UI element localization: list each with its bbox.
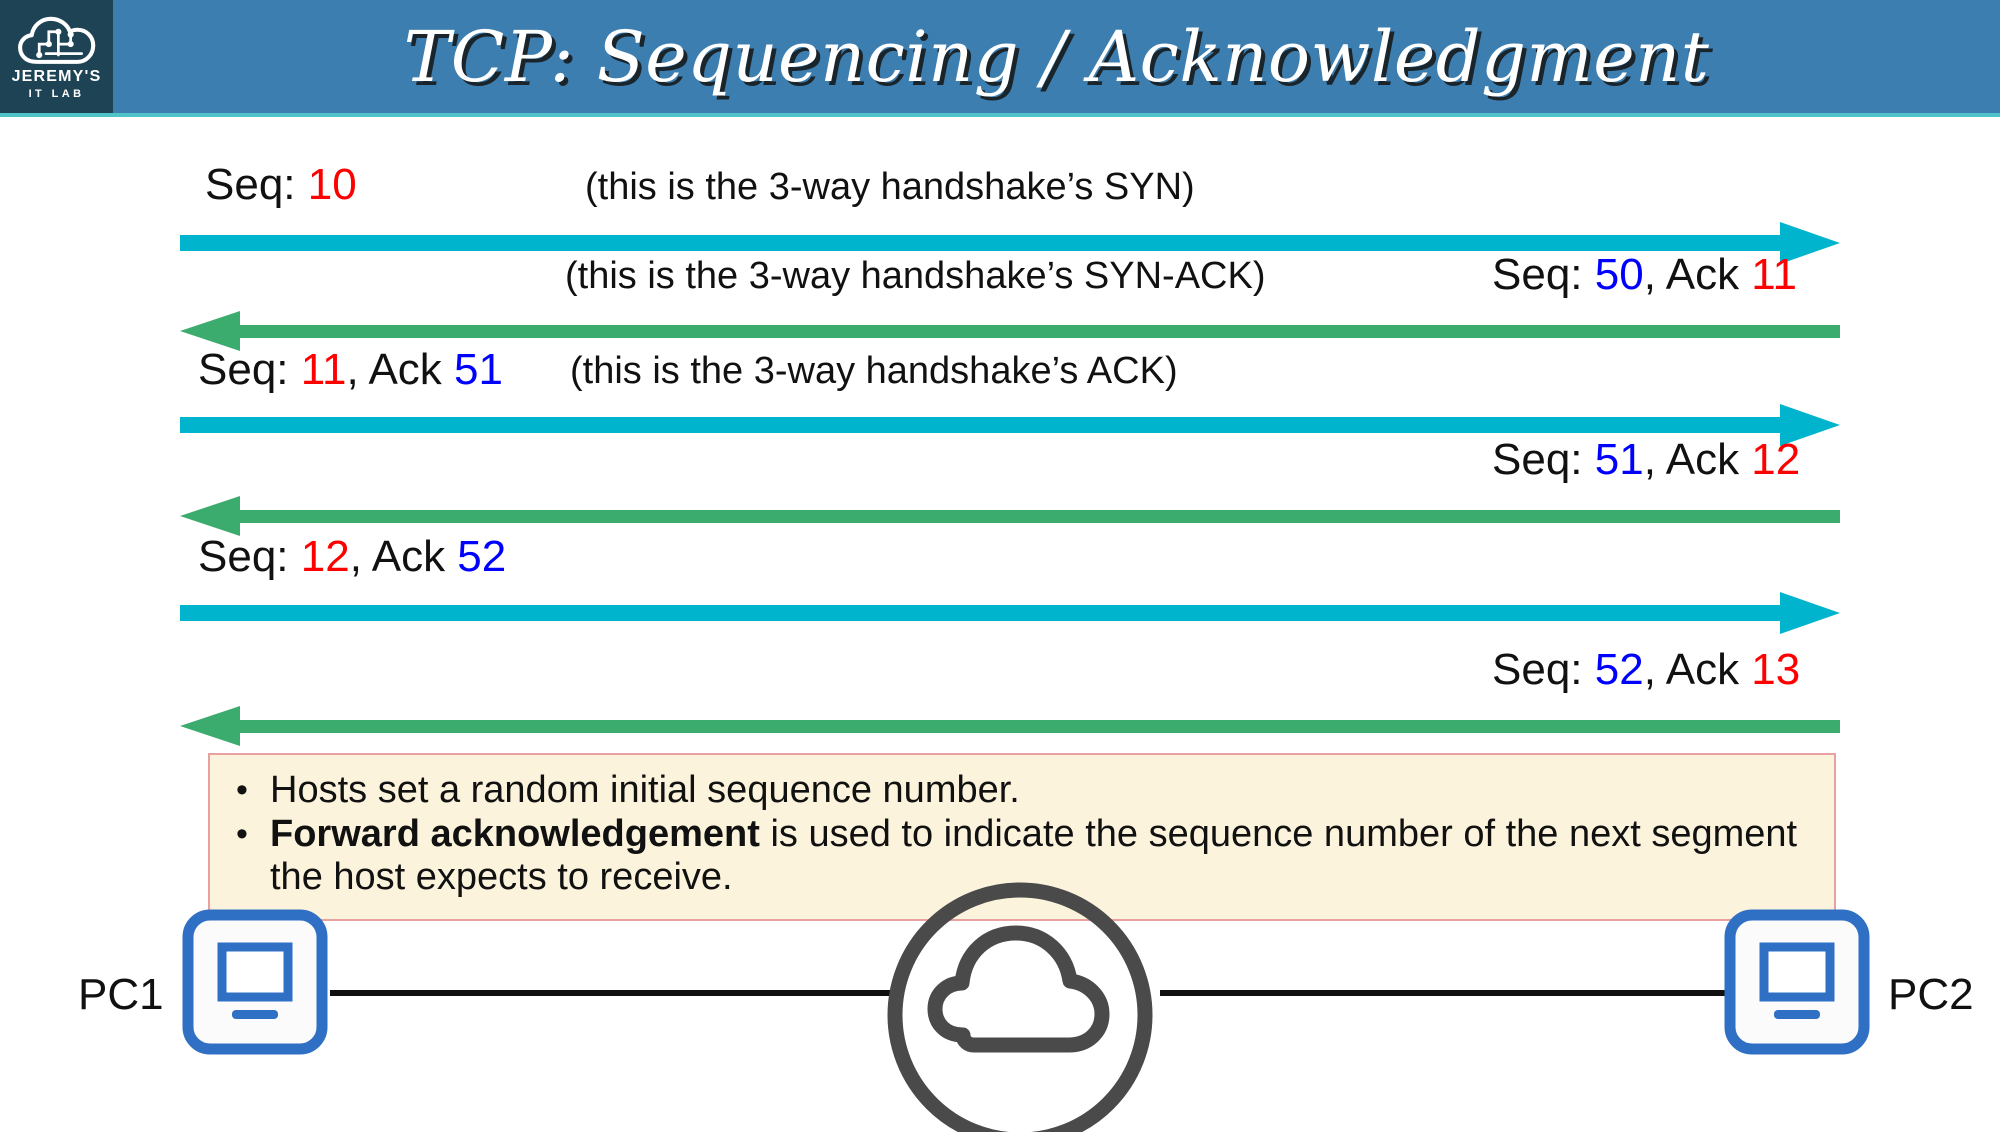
seq-prefix: Seq: xyxy=(198,532,301,581)
ack-prefix: , Ack xyxy=(350,532,458,581)
ack-value: 13 xyxy=(1751,645,1800,694)
network-topology: PC1 PC2 xyxy=(0,880,2000,1132)
note-bullet-item: • Hosts set a random initial sequence nu… xyxy=(236,769,1808,813)
note-text-body: Hosts set a random initial sequence numb… xyxy=(270,769,1020,811)
ack-prefix: , Ack xyxy=(346,345,454,394)
slide-canvas: JEREMY'S IT LAB TCP: Sequencing / Acknow… xyxy=(0,0,2000,1132)
header-underline xyxy=(0,113,2000,117)
cloud-network-icon[interactable] xyxy=(880,875,1160,1132)
device-label-pc1: PC1 xyxy=(78,970,164,1020)
ack-prefix: , Ack xyxy=(1644,435,1752,484)
message-label-data-1: Seq: 51, Ack 12 xyxy=(1492,435,1800,485)
device-label-pc2: PC2 xyxy=(1888,970,1974,1020)
desktop-computer-icon[interactable] xyxy=(1722,907,1872,1057)
ack-value: 52 xyxy=(457,532,506,581)
message-note-syn: (this is the 3-way handshake’s SYN) xyxy=(585,166,1195,209)
desktop-computer-icon[interactable] xyxy=(180,907,330,1057)
seq-prefix: Seq: xyxy=(1492,250,1595,299)
message-label-data-3: Seq: 52, Ack 13 xyxy=(1492,645,1800,695)
arrow-left-data-3 xyxy=(180,703,1840,749)
seq-value: 51 xyxy=(1595,435,1644,484)
seq-prefix: Seq: xyxy=(1492,645,1595,694)
ack-value: 11 xyxy=(1751,250,1797,299)
cloud-circuit-icon xyxy=(16,14,98,66)
slide-header: JEREMY'S IT LAB TCP: Sequencing / Acknow… xyxy=(0,0,2000,117)
bullet-glyph: • xyxy=(236,769,270,812)
seq-value: 12 xyxy=(301,532,350,581)
message-label-syn-ack: Seq: 50, Ack 11 xyxy=(1492,250,1797,300)
seq-value: 10 xyxy=(308,160,357,209)
message-label-data-2: Seq: 12, Ack 52 xyxy=(198,532,506,582)
seq-value: 11 xyxy=(301,345,347,394)
logo-text-secondary: IT LAB xyxy=(29,89,85,100)
seq-prefix: Seq: xyxy=(1492,435,1595,484)
message-note-ack: (this is the 3-way handshake’s ACK) xyxy=(570,350,1178,393)
message-note-syn-ack: (this is the 3-way handshake’s SYN-ACK) xyxy=(565,255,1265,298)
note-text: Hosts set a random initial sequence numb… xyxy=(270,769,1808,813)
ack-prefix: , Ack xyxy=(1644,645,1752,694)
bullet-glyph: • xyxy=(236,813,270,856)
page-title: TCP: Sequencing / Acknowledgment xyxy=(113,0,2000,113)
seq-value: 50 xyxy=(1595,250,1644,299)
message-label-ack: Seq: 11, Ack 51 xyxy=(198,345,503,395)
arrow-right-data-2 xyxy=(180,590,1840,636)
seq-prefix: Seq: xyxy=(205,160,308,209)
ack-value: 51 xyxy=(454,345,503,394)
message-label-syn: Seq: 10 xyxy=(205,160,357,210)
note-text-emphasis: Forward acknowledgement xyxy=(270,813,760,855)
logo-text-primary: JEREMY'S xyxy=(12,69,102,85)
ack-prefix: , Ack xyxy=(1644,250,1752,299)
ack-value: 12 xyxy=(1751,435,1800,484)
seq-prefix: Seq: xyxy=(198,345,301,394)
seq-value: 52 xyxy=(1595,645,1644,694)
brand-logo: JEREMY'S IT LAB xyxy=(0,0,113,113)
